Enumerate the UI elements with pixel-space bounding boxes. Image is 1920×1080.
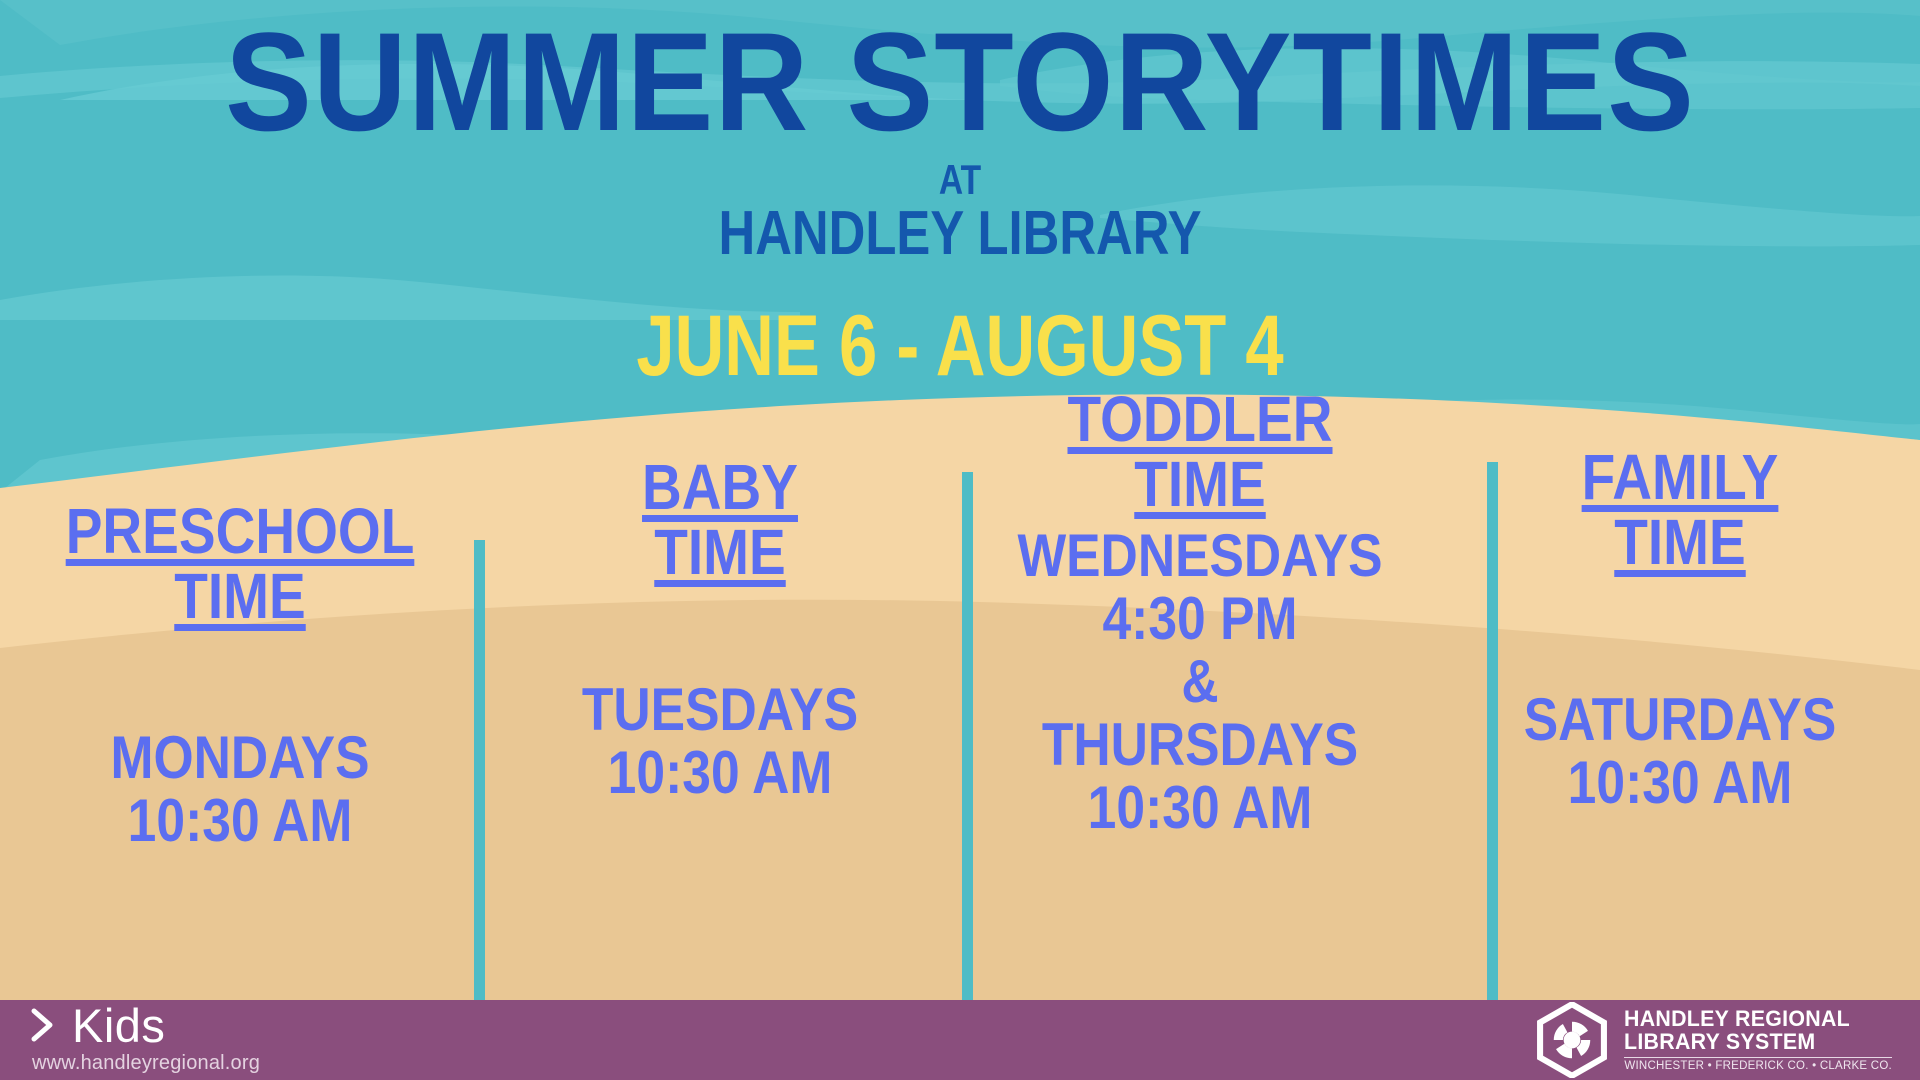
schedule-line: TUESDAYS <box>514 678 927 741</box>
column-title-line1: FAMILY <box>1474 445 1887 510</box>
column-schedule: TUESDAYS 10:30 AM <box>514 678 927 804</box>
column-title-line2: TIME <box>1474 510 1887 575</box>
column-schedule: SATURDAYS 10:30 AM <box>1474 688 1887 814</box>
storytime-column-family: FAMILY TIME SATURDAYS 10:30 AM <box>1440 455 1920 945</box>
column-title-line2: TIME <box>994 452 1407 517</box>
logo-text-block: HANDLEY REGIONAL LIBRARY SYSTEM WINCHEST… <box>1624 1008 1892 1073</box>
column-title-line2: TIME <box>514 520 927 585</box>
chevron-right-icon <box>30 1008 56 1042</box>
footer-bar: Kids www.handleyregional.org HANDLEY REG… <box>0 1000 1920 1080</box>
column-title-line1: BABY <box>514 455 927 520</box>
schedule-line: 10:30 AM <box>1474 751 1887 814</box>
column-title-line1: TODDLER <box>994 387 1407 452</box>
schedule-line: WEDNESDAYS <box>994 524 1407 587</box>
column-title-line1: PRESCHOOL <box>34 499 447 564</box>
schedule-line: 4:30 PM <box>994 587 1407 650</box>
column-title: TODDLER TIME <box>994 387 1407 518</box>
schedule-line: SATURDAYS <box>1474 688 1887 751</box>
storytime-column-toddler: TODDLER TIME WEDNESDAYS 4:30 PM & THURSD… <box>960 455 1440 945</box>
logo-line-2: LIBRARY SYSTEM <box>1624 1031 1884 1053</box>
kids-section[interactable]: Kids <box>30 1002 260 1049</box>
schedule-line: THURSDAYS <box>994 713 1407 776</box>
column-title: BABY TIME <box>514 455 927 586</box>
schedule-line: 10:30 AM <box>994 776 1407 839</box>
schedule-line: MONDAYS <box>34 726 447 789</box>
column-title: PRESCHOOL TIME <box>34 499 447 630</box>
column-schedule: MONDAYS 10:30 AM <box>34 726 447 852</box>
schedule-line: & <box>994 650 1407 713</box>
schedule-line: 10:30 AM <box>514 741 927 804</box>
storytime-columns: PRESCHOOL TIME MONDAYS 10:30 AM BABY TIM… <box>0 455 1920 945</box>
storytime-column-preschool: PRESCHOOL TIME MONDAYS 10:30 AM <box>0 455 480 945</box>
logo-divider-rule <box>1624 1057 1892 1058</box>
footer-left-group: Kids www.handleyregional.org <box>30 1000 260 1080</box>
hexagon-logo-icon <box>1534 1002 1610 1078</box>
logo-line-1: HANDLEY REGIONAL <box>1624 1008 1884 1030</box>
kids-label: Kids <box>72 1002 165 1049</box>
poster-canvas: SUMMER STORYTIMES AT HANDLEY LIBRARY JUN… <box>0 0 1920 1080</box>
schedule-line: 10:30 AM <box>34 789 447 852</box>
logo-line-3: WINCHESTER • FREDERICK CO. • CLARKE CO. <box>1624 1061 1892 1073</box>
column-title: FAMILY TIME <box>1474 445 1887 576</box>
library-logo: HANDLEY REGIONAL LIBRARY SYSTEM WINCHEST… <box>1534 1002 1892 1078</box>
column-title-line2: TIME <box>34 564 447 629</box>
column-schedule: WEDNESDAYS 4:30 PM & THURSDAYS 10:30 AM <box>994 524 1407 839</box>
website-url[interactable]: www.handleyregional.org <box>32 1052 260 1075</box>
storytime-column-baby: BABY TIME TUESDAYS 10:30 AM <box>480 455 960 945</box>
